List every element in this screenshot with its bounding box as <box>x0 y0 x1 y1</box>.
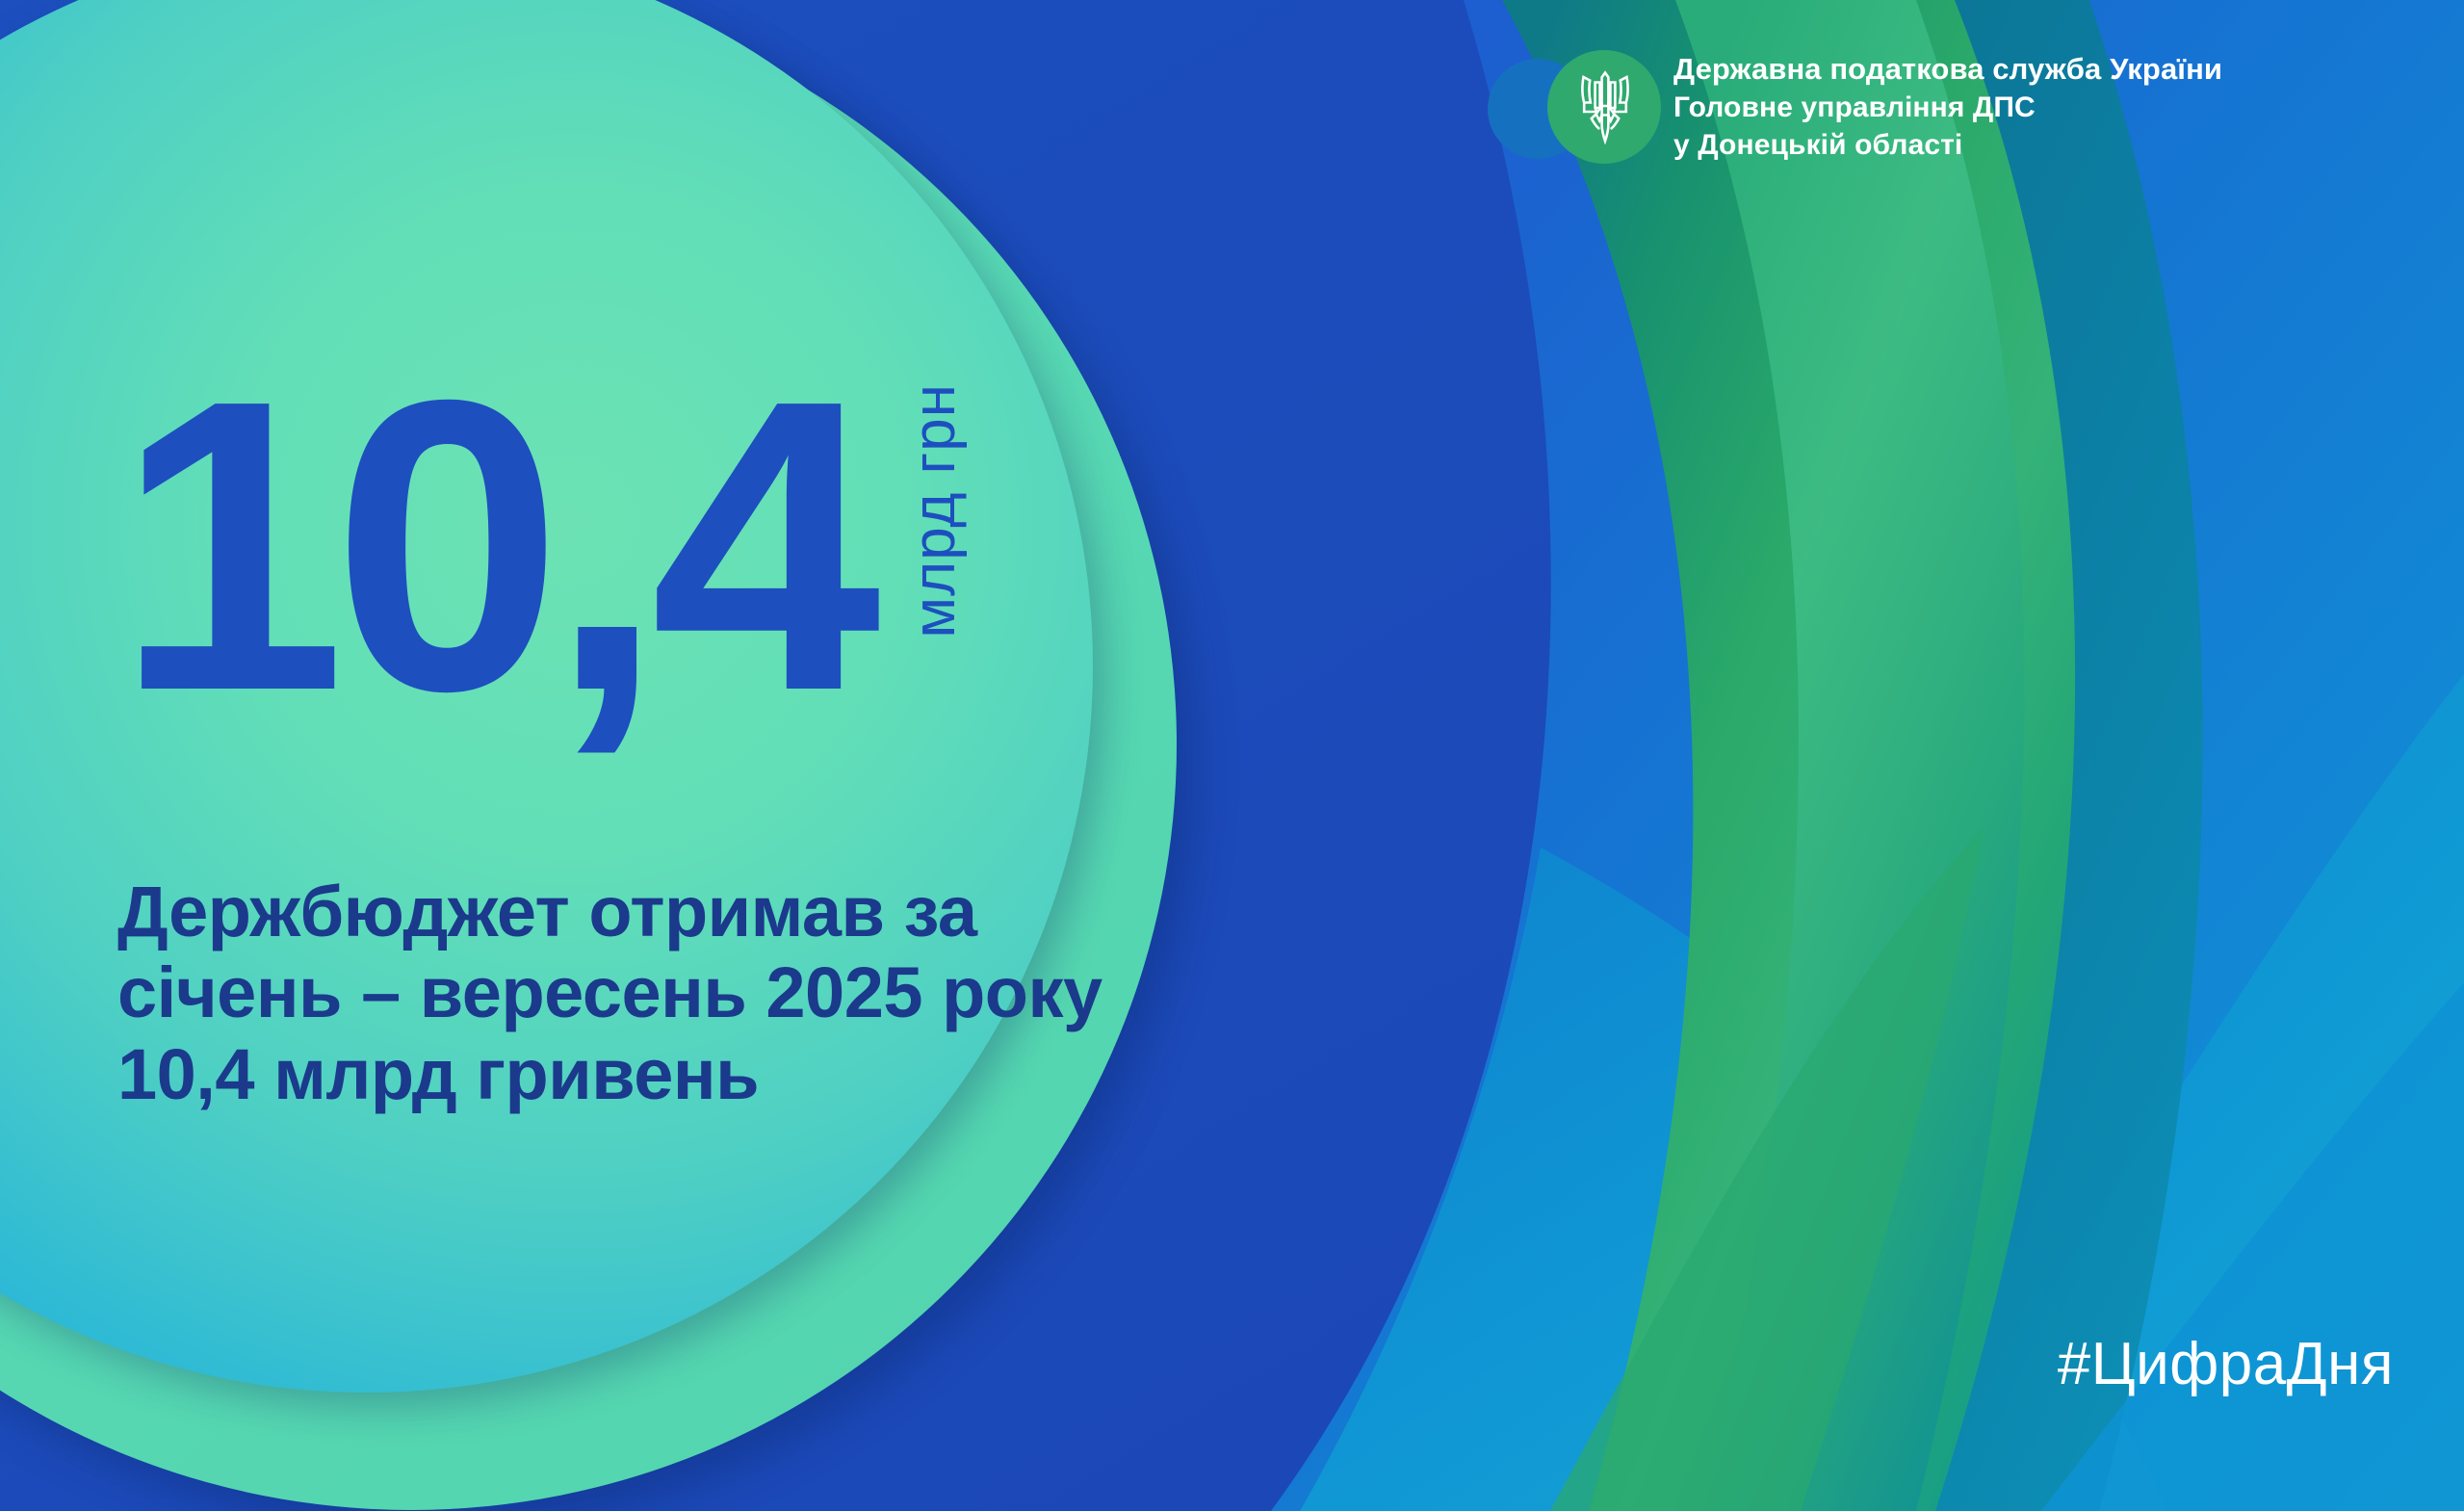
highlight-value: 10,4 <box>116 364 868 728</box>
logo-text-block: Державна податкова служба України Головн… <box>1673 50 2222 164</box>
hashtag-label: #ЦифраДня <box>2058 1330 2394 1398</box>
organization-logo: Державна податкова служба України Головн… <box>1488 50 2222 164</box>
highlight-figure-block: 10,4 млрд грн <box>116 364 969 728</box>
highlight-unit: млрд грн <box>900 383 969 638</box>
headline-text: Держбюджет отримав за січень – вересень … <box>117 872 1215 1115</box>
logo-line-2: Головне управління ДПС <box>1673 89 2222 126</box>
logo-line-1: Державна податкова служба України <box>1673 50 2222 89</box>
logo-marks <box>1488 50 1724 164</box>
logo-line-3: у Донецькій області <box>1673 126 2222 164</box>
ukraine-trident-icon <box>1578 69 1632 144</box>
